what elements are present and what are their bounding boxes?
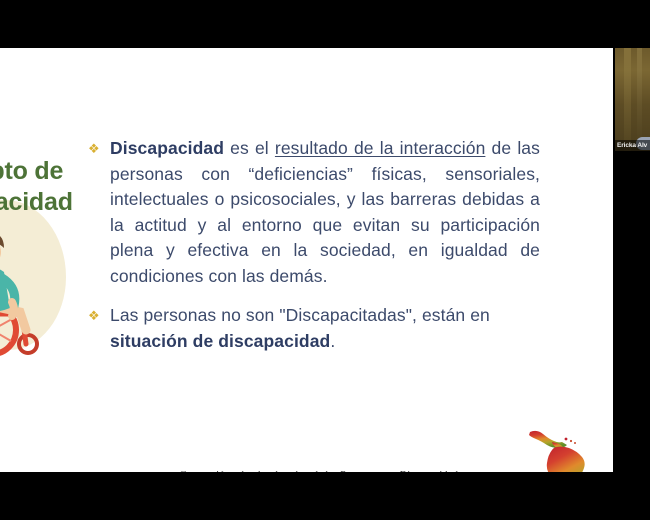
participant-video-tile[interactable]: Ericka Alv	[615, 48, 650, 151]
video-feed-detail-2	[637, 48, 642, 151]
video-feed	[615, 48, 650, 151]
letterbox-top	[0, 0, 650, 48]
citation: Convención sobre los derechos de las Per…	[150, 468, 460, 472]
bullet-text-definition: Discapacidad es el resultado de la inter…	[110, 136, 540, 289]
situation-period: .	[330, 331, 335, 351]
slide-body: ❖ Discapacidad es el resultado de la int…	[88, 136, 540, 368]
definition-connector: es el	[224, 138, 275, 158]
bullet-diamond-icon: ❖	[88, 303, 110, 328]
definition-emphasis: resultado de la interacción	[275, 138, 485, 158]
letterbox-bottom	[0, 472, 650, 520]
situation-emphasis: situación de discapacidad	[110, 331, 330, 351]
bullet-text-situation: Las personas no son "Discapacitadas", es…	[110, 303, 540, 354]
citation-line-1: Convención sobre los derechos de las Per…	[150, 468, 460, 472]
definition-remainder: de las personas con “deficiencias” físic…	[110, 138, 540, 286]
term-discapacidad: Discapacidad	[110, 138, 224, 158]
list-item: ❖ Discapacidad es el resultado de la int…	[88, 136, 540, 289]
screen-share-viewport: Concepto de Discapacidad ❖ Discapacidad …	[0, 0, 650, 520]
participant-name-label: Ericka Alv	[615, 140, 650, 151]
bullet-diamond-icon: ❖	[88, 136, 110, 161]
video-feed-detail	[624, 48, 631, 151]
page-title: Concepto de Discapacidad	[0, 156, 84, 217]
presentation-slide[interactable]: Concepto de Discapacidad ❖ Discapacidad …	[0, 48, 613, 472]
list-item: ❖ Las personas no son "Discapacitadas", …	[88, 303, 540, 354]
situation-lead: Las personas no son "Discapacitadas", es…	[110, 305, 490, 325]
latin-america-map-icon	[516, 426, 602, 472]
person-in-wheelchair-illustration	[0, 226, 48, 358]
alamud-logo: ALAMUD	[516, 426, 602, 472]
